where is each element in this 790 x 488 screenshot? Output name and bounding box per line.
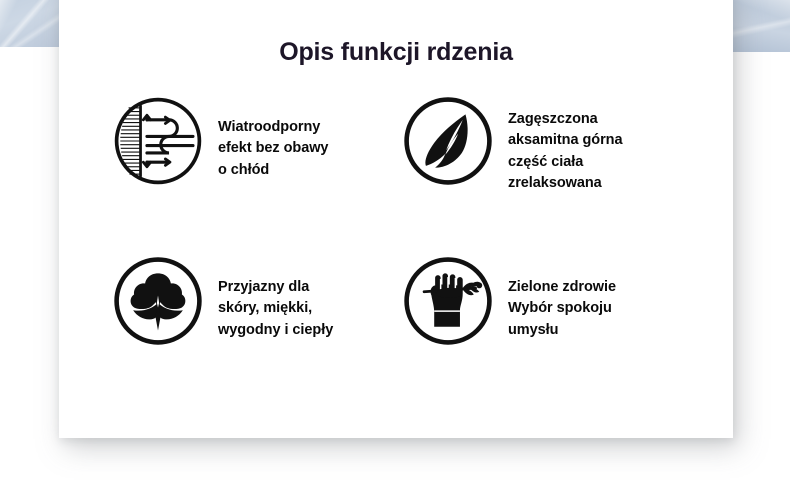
feature-line: efekt bez obawy xyxy=(218,138,328,159)
windproof-fabric-icon xyxy=(112,95,204,187)
marble-texture-top-left xyxy=(0,0,59,47)
page-title: Opis funkcji rdzenia xyxy=(59,38,733,67)
feature-line: Wiatroodporny xyxy=(218,117,328,138)
feature-line: wygodny i ciepły xyxy=(218,320,333,341)
feature-line: Wybór spokoju xyxy=(508,298,616,319)
feature-text-windproof: Wiatroodporny efekt bez obawy o chłód xyxy=(218,95,328,181)
feature-line: skóry, miękki, xyxy=(218,298,333,319)
feature-item-windproof: Wiatroodporny efekt bez obawy o chłód xyxy=(112,95,402,255)
feature-line: aksamitna górna xyxy=(508,130,623,151)
feature-item-velvet: Zagęszczona aksamitna górna część ciała … xyxy=(402,95,692,255)
feature-card: Opis funkcji rdzenia xyxy=(59,0,733,438)
feature-line: umysłu xyxy=(508,320,616,341)
feature-text-velvet: Zagęszczona aksamitna górna część ciała … xyxy=(508,95,623,194)
fist-plant-icon xyxy=(402,255,494,347)
feature-line: Zagęszczona xyxy=(508,109,623,130)
feature-text-skin-friendly: Przyjazny dla skóry, miękki, wygodny i c… xyxy=(218,255,333,341)
feature-line: o chłód xyxy=(218,160,328,181)
feather-leaf-icon xyxy=(402,95,494,187)
feature-line: zrelaksowana xyxy=(508,173,623,194)
feature-line: część ciała xyxy=(508,152,623,173)
feature-item-skin-friendly: Przyjazny dla skóry, miękki, wygodny i c… xyxy=(112,255,402,415)
marble-texture-top-right xyxy=(733,0,790,52)
feature-line: Zielone zdrowie xyxy=(508,277,616,298)
feature-grid: Wiatroodporny efekt bez obawy o chłód Za… xyxy=(112,95,692,415)
feature-line: Przyjazny dla xyxy=(218,277,333,298)
feature-text-green-health: Zielone zdrowie Wybór spokoju umysłu xyxy=(508,255,616,341)
cotton-flower-icon xyxy=(112,255,204,347)
feature-item-green-health: Zielone zdrowie Wybór spokoju umysłu xyxy=(402,255,692,415)
